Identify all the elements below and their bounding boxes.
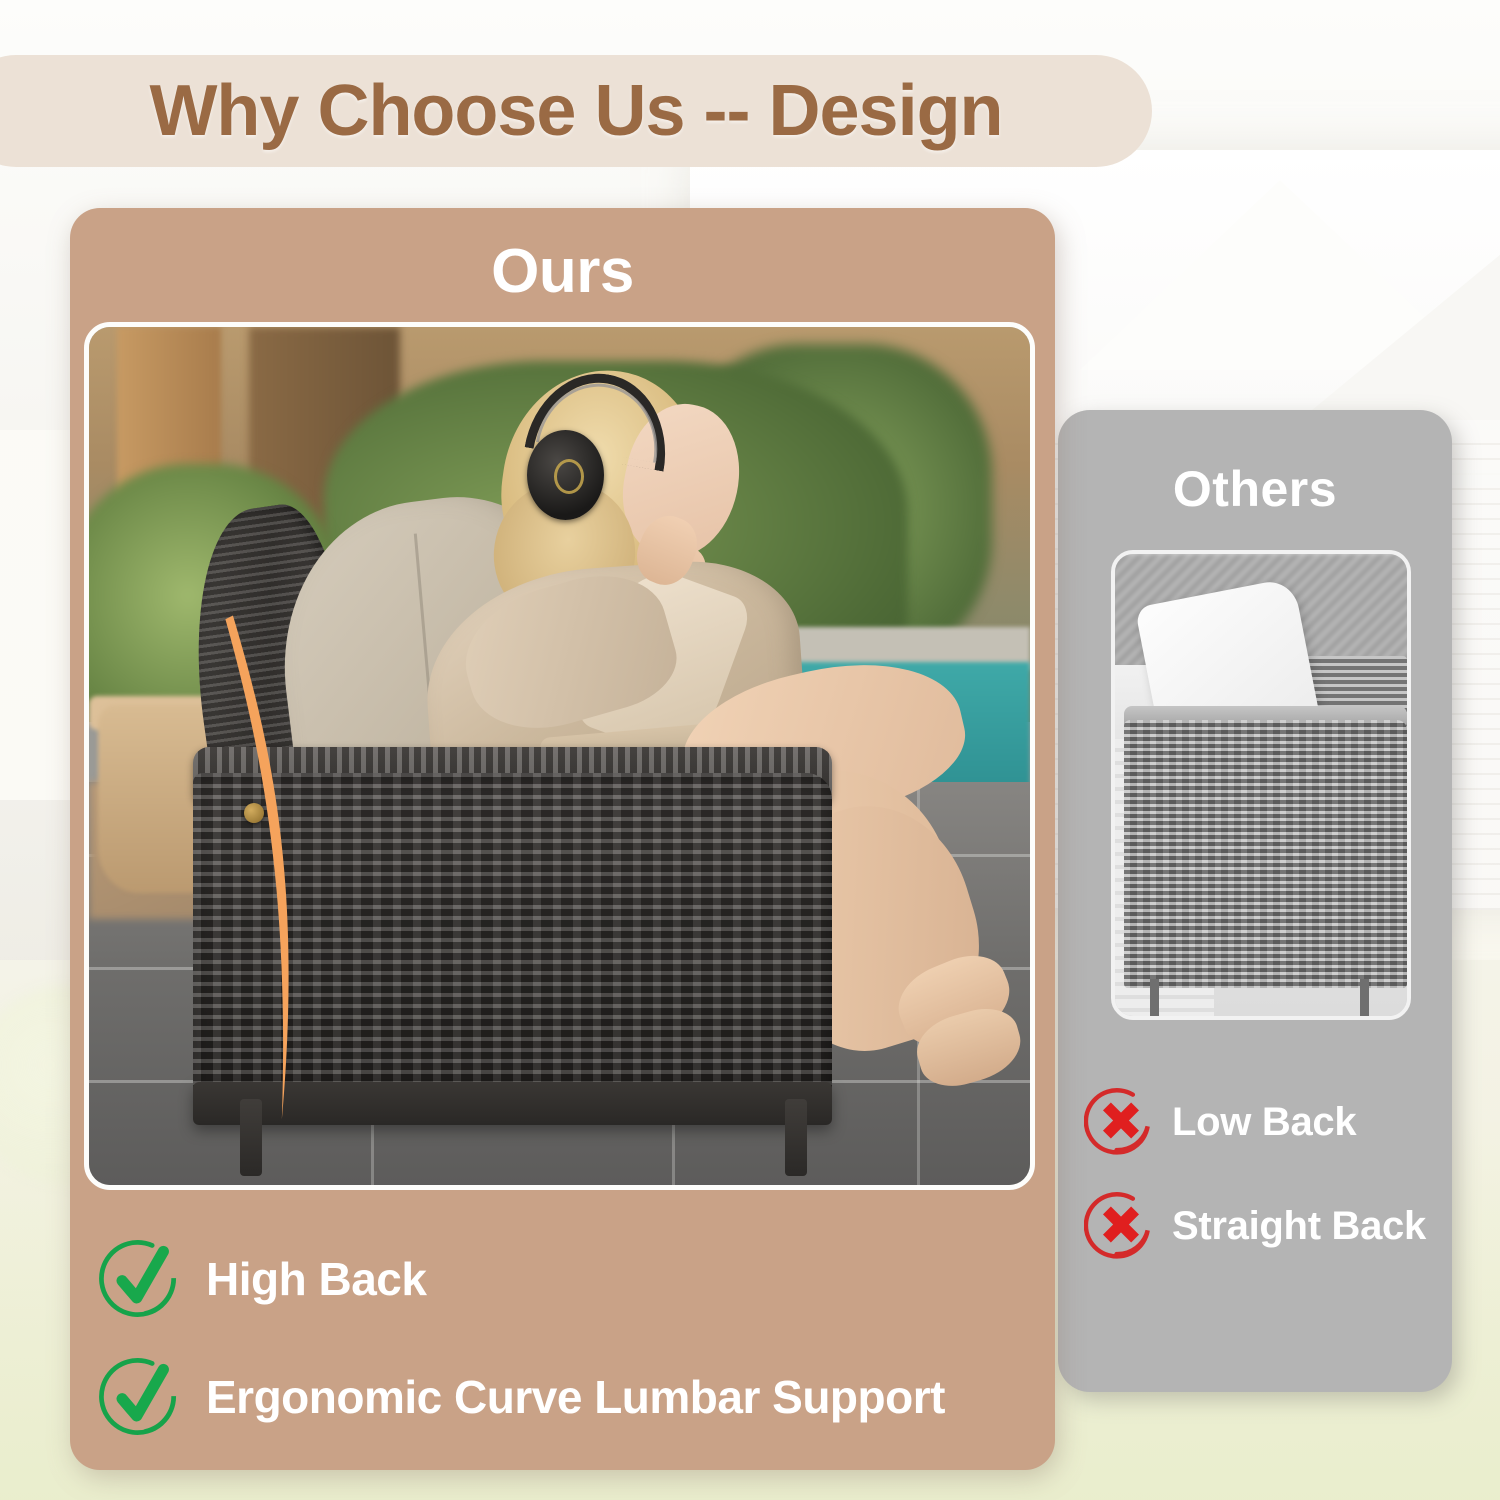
- title-banner: Why Choose Us -- Design: [0, 55, 1152, 167]
- x-circle-icon: [1084, 1085, 1158, 1159]
- background-gable-right: [1300, 230, 1500, 420]
- chair-base-rail: [193, 1082, 833, 1125]
- check-circle-icon: [98, 1354, 184, 1440]
- ours-photo: [84, 322, 1035, 1190]
- others-photo-scene: [1115, 554, 1407, 1016]
- page-title: Why Choose Us -- Design: [149, 75, 1002, 147]
- others-sofa-weave: [1124, 720, 1407, 988]
- x-circle-icon: [1084, 1189, 1158, 1263]
- ours-feature-list: High Back Ergonomic Curve Lumbar Support: [98, 1220, 1038, 1456]
- others-feature-label: Straight Back: [1172, 1204, 1426, 1249]
- others-panel: Others: [1058, 410, 1452, 1392]
- ours-photo-scene: [89, 327, 1030, 1185]
- ours-feature-item: High Back: [98, 1220, 1038, 1338]
- ours-feature-label: Ergonomic Curve Lumbar Support: [206, 1370, 945, 1424]
- chair-leg: [240, 1099, 262, 1176]
- others-feature-label: Low Back: [1172, 1100, 1356, 1145]
- ours-panel: Ours: [70, 208, 1055, 1470]
- others-sofa-leg: [1360, 979, 1369, 1016]
- others-feature-item: Straight Back: [1084, 1174, 1452, 1278]
- ours-title: Ours: [70, 236, 1055, 307]
- ours-feature-label: High Back: [206, 1252, 426, 1306]
- others-feature-item: Low Back: [1084, 1070, 1452, 1174]
- others-photo: [1111, 550, 1411, 1020]
- others-sofa-leg: [1150, 979, 1159, 1016]
- chair-body-weave: [193, 773, 833, 1116]
- ours-feature-item: Ergonomic Curve Lumbar Support: [98, 1338, 1038, 1456]
- infographic-canvas: Why Choose Us -- Design Others: [0, 0, 1500, 1500]
- others-feature-list: Low Back Straight Back: [1084, 1070, 1452, 1278]
- others-title: Others: [1058, 460, 1452, 518]
- check-circle-icon: [98, 1236, 184, 1322]
- chair-leg: [785, 1099, 807, 1176]
